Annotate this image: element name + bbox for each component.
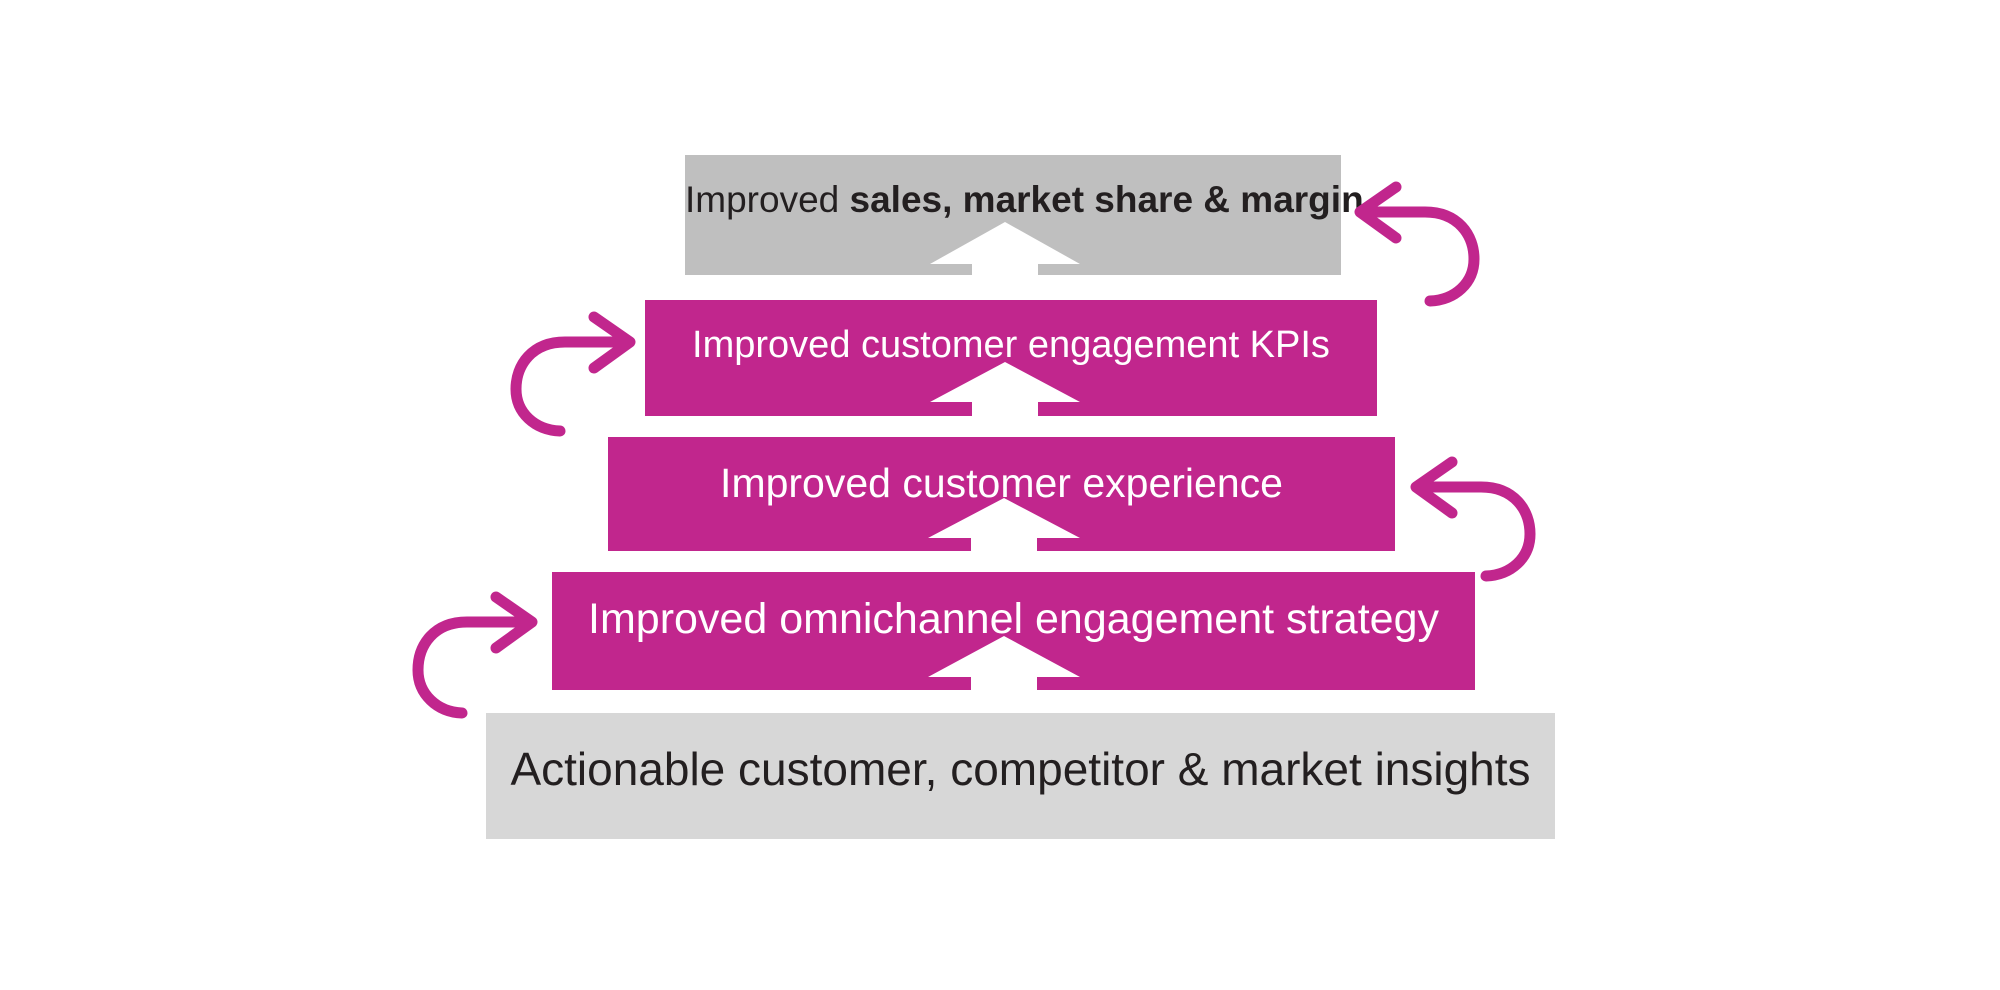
diagram-canvas: Improved sales, market share & margin Im… xyxy=(0,0,2000,990)
loop-arrow-left-lower xyxy=(418,595,558,725)
pyramid-level-4-emphasis: omnichannel engagement strategy xyxy=(779,595,1439,643)
loop-arrow-right-lower xyxy=(1408,460,1548,585)
pyramid-level-actionable-insights[interactable]: Actionable customer, competitor & market… xyxy=(486,713,1555,839)
pyramid-level-1-label: Improved sales, market share & margin xyxy=(685,181,1341,218)
pyramid-level-5-label: Actionable customer, competitor & market… xyxy=(486,746,1555,792)
pyramid-level-1-lead: Improved xyxy=(685,179,850,220)
pyramid-level-4-label: Improved omnichannel engagement strategy xyxy=(552,598,1475,641)
pyramid-level-2-emphasis: customer engagement KPIs xyxy=(861,324,1330,366)
loop-arrow-right-top xyxy=(1352,185,1492,310)
pyramid-level-3-emphasis: customer experience xyxy=(902,460,1283,506)
loop-arrow-left-upper xyxy=(516,315,656,440)
pyramid-level-omnichannel-engagement-strategy[interactable]: Improved omnichannel engagement strategy xyxy=(552,572,1475,690)
pyramid-level-sales-market-share-margin[interactable]: Improved sales, market share & margin xyxy=(685,155,1341,275)
pyramid-level-2-label: Improved customer engagement KPIs xyxy=(645,326,1377,364)
pyramid-level-1-emphasis: sales, market share & margin xyxy=(850,179,1364,220)
pyramid-level-4-lead: Improved xyxy=(588,595,779,643)
pyramid-level-customer-engagement-kpis[interactable]: Improved customer engagement KPIs xyxy=(645,300,1377,416)
pyramid-level-3-label: Improved customer experience xyxy=(608,463,1395,504)
pyramid-level-5-emphasis: Actionable customer, competitor & market… xyxy=(510,743,1530,795)
pyramid-level-3-lead: Improved xyxy=(720,460,902,506)
pyramid-level-2-lead: Improved xyxy=(692,324,861,366)
pyramid-level-customer-experience[interactable]: Improved customer experience xyxy=(608,437,1395,551)
